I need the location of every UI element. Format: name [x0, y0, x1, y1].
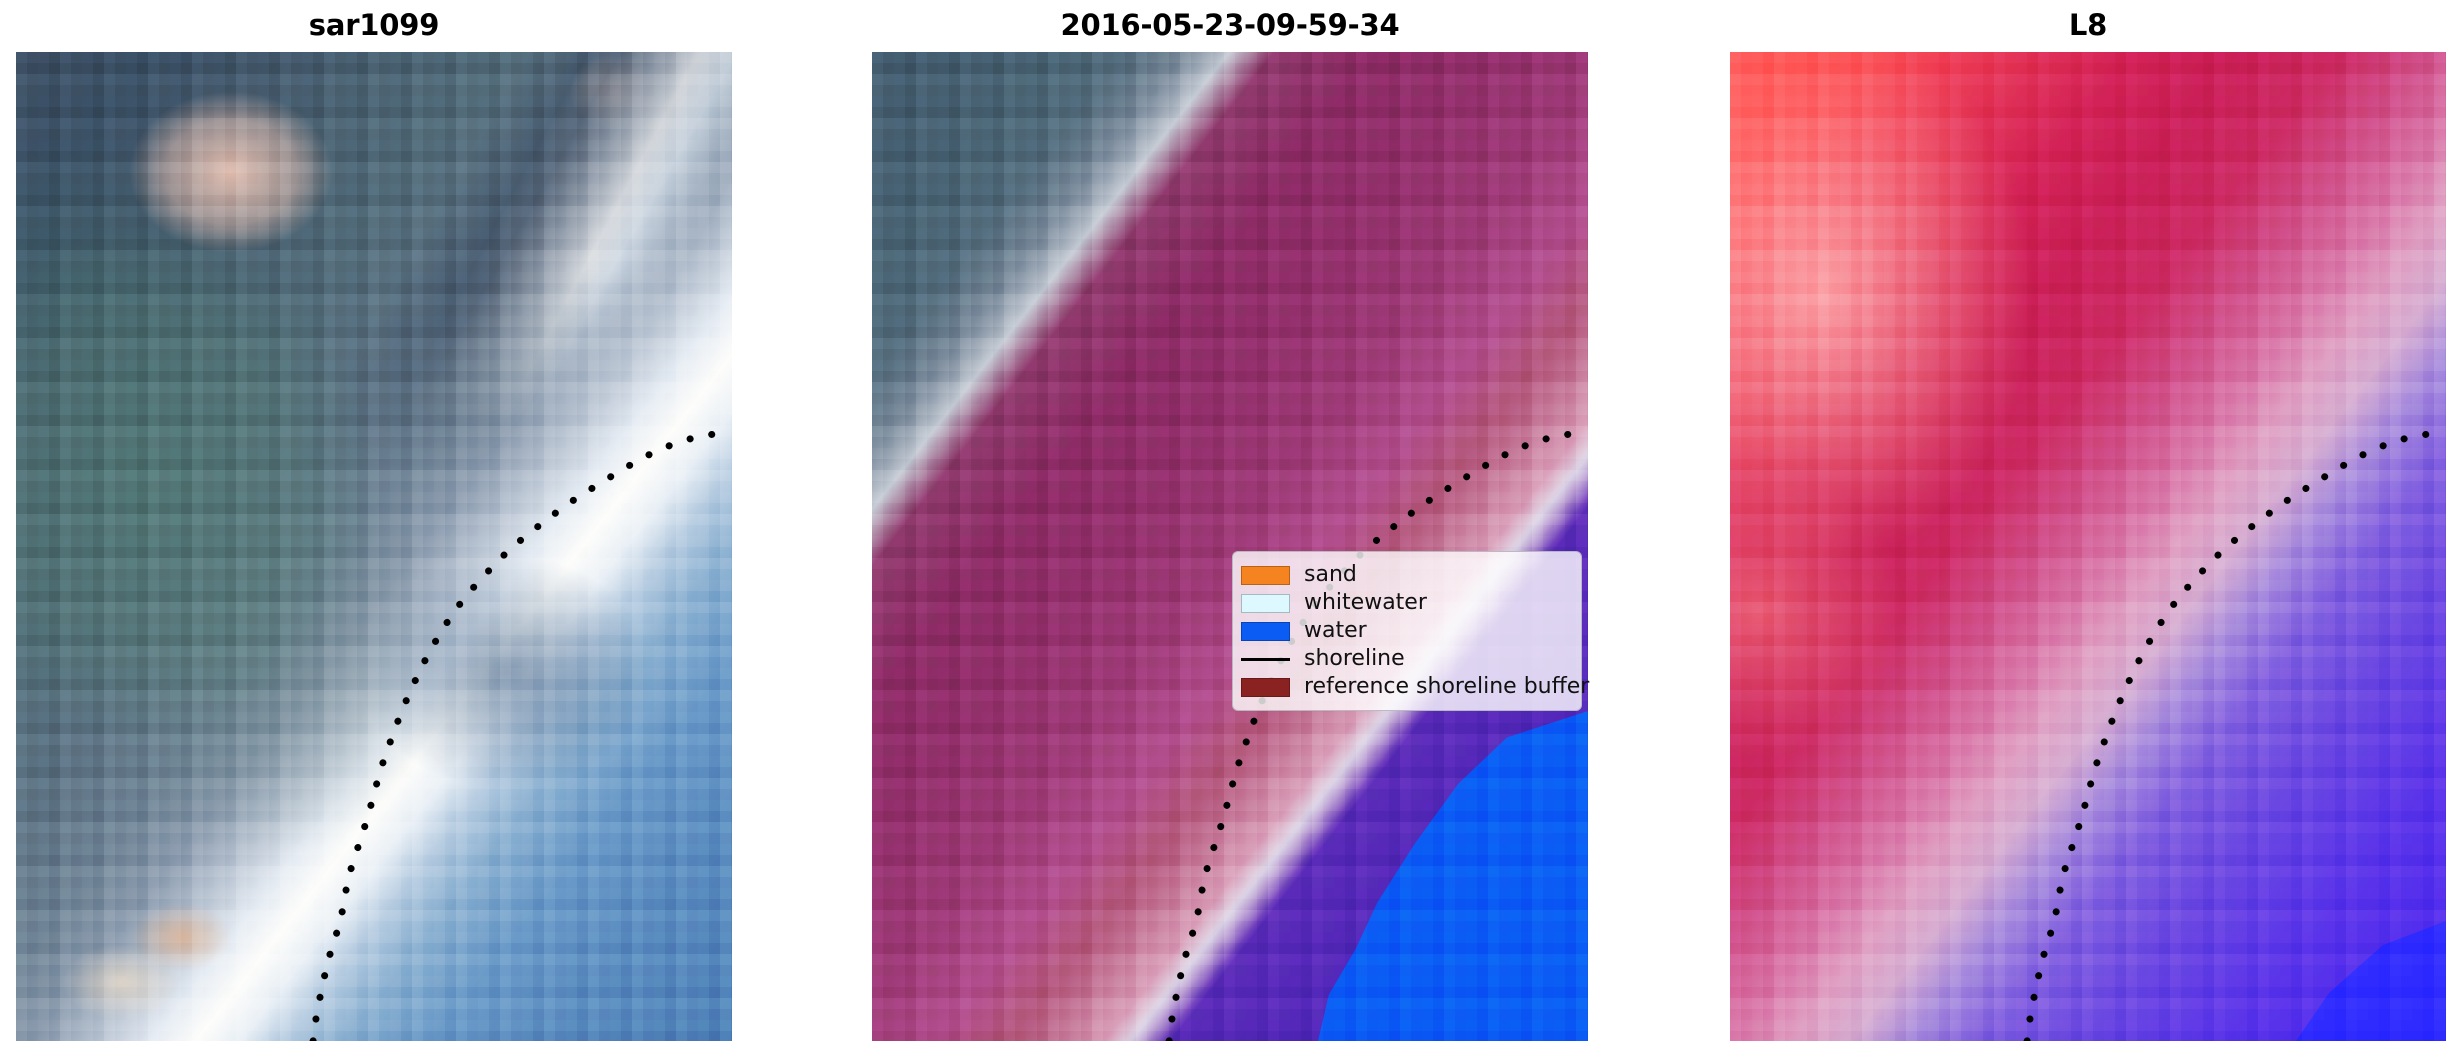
panel-title-1: sar1099	[16, 4, 732, 46]
pixel-noise-layer	[16, 52, 732, 1041]
pixel-noise-layer	[872, 52, 1588, 1041]
legend-swatch-shoreline-icon	[1241, 658, 1290, 661]
panel-title-3: L8	[1730, 4, 2446, 46]
legend-box: sand whitewater water shoreline referenc…	[1232, 551, 1582, 711]
panel-L8[interactable]	[1730, 52, 2446, 1041]
legend-swatch-whitewater-icon	[1241, 594, 1290, 613]
legend-label-shoreline: shoreline	[1304, 645, 1405, 673]
legend-item-water: water	[1241, 617, 1571, 645]
satellite-image-truecolor	[16, 52, 732, 1041]
legend-item-sand: sand	[1241, 561, 1571, 589]
legend-item-whitewater: whitewater	[1241, 589, 1571, 617]
pixel-noise-layer	[1730, 52, 2446, 1041]
legend-swatch-reference-buffer-icon	[1241, 678, 1290, 697]
falsecolor-image	[1730, 52, 2446, 1041]
legend-label-reference-shoreline-buffer: reference shoreline buffer	[1304, 673, 1589, 701]
legend-swatch-sand-icon	[1241, 566, 1290, 585]
panel-classified[interactable]	[872, 52, 1588, 1041]
legend-label-whitewater: whitewater	[1304, 589, 1427, 617]
legend-label-sand: sand	[1304, 561, 1357, 589]
legend-swatch-water-icon	[1241, 622, 1290, 641]
panel-title-2: 2016-05-23-09-59-34	[872, 4, 1588, 46]
classified-image	[872, 52, 1588, 1041]
legend-item-shoreline: shoreline	[1241, 645, 1571, 673]
figure-canvas: sar1099 2016-05-23-09-59-34	[0, 0, 2460, 1056]
legend-item-reference-shoreline-buffer: reference shoreline buffer	[1241, 673, 1571, 701]
panel-sar1099[interactable]	[16, 52, 732, 1041]
legend-label-water: water	[1304, 617, 1367, 645]
